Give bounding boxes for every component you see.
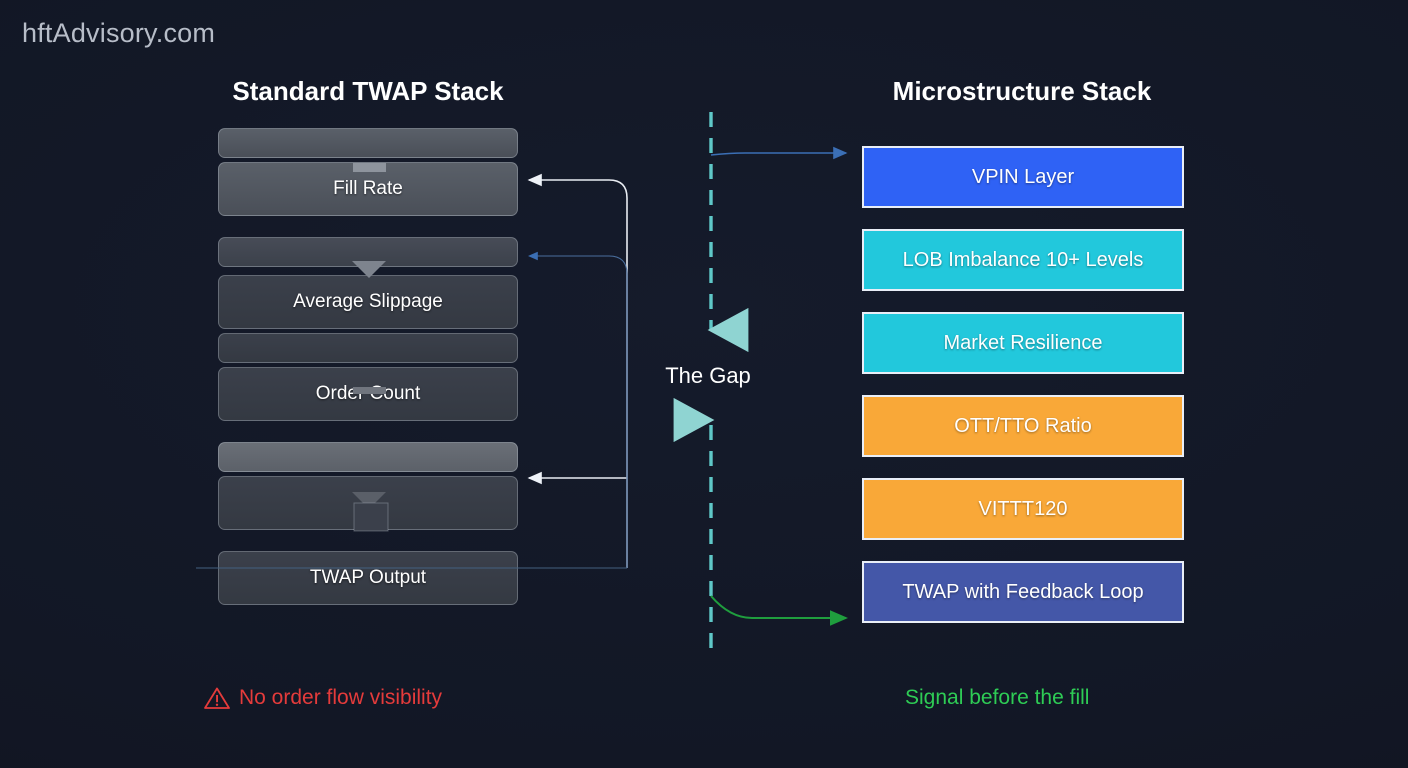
microstructure-box: OTT/TTO Ratio (862, 395, 1184, 457)
microstructure-box-label: LOB Imbalance 10+ Levels (903, 249, 1144, 272)
microstructure-stack: VPIN LayerLOB Imbalance 10+ LevelsMarket… (862, 146, 1184, 644)
left-footer-note: No order flow visibility (204, 686, 442, 710)
microstructure-box-label: Market Resilience (944, 332, 1103, 355)
twap-stack-box (218, 237, 518, 267)
microstructure-box: Market Resilience (862, 312, 1184, 374)
twap-stack-box-label: Average Slippage (293, 291, 443, 313)
right-footer-text: Signal before the fill (905, 686, 1089, 710)
twap-stack-box (218, 476, 518, 530)
twap-stack-box-label: Order Count (316, 383, 421, 405)
warning-triangle-icon (204, 687, 230, 710)
microstructure-box: VPIN Layer (862, 146, 1184, 208)
right-column-title: Microstructure Stack (782, 76, 1262, 107)
microstructure-box-label: VITTT120 (979, 498, 1068, 521)
microstructure-box-label: TWAP with Feedback Loop (902, 581, 1143, 604)
site-watermark: hftAdvisory.com (22, 18, 215, 49)
microstructure-box: TWAP with Feedback Loop (862, 561, 1184, 623)
microstructure-box-label: OTT/TTO Ratio (954, 415, 1091, 438)
twap-stack-box: Average Slippage (218, 275, 518, 329)
microstructure-box-label: VPIN Layer (972, 166, 1074, 189)
twap-stack-box (218, 442, 518, 472)
twap-stack-box-label: TWAP Output (310, 567, 426, 589)
standard-twap-stack: Fill RateAverage SlippageOrder CountTWAP… (218, 128, 518, 605)
gap-label: The Gap (613, 363, 803, 389)
left-column-title: Standard TWAP Stack (128, 76, 608, 107)
twap-stack-box (218, 333, 518, 363)
left-footer-text: No order flow visibility (239, 686, 442, 710)
twap-stack-box: Order Count (218, 367, 518, 421)
microstructure-box: VITTT120 (862, 478, 1184, 540)
twap-stack-box: TWAP Output (218, 551, 518, 605)
microstructure-box: LOB Imbalance 10+ Levels (862, 229, 1184, 291)
twap-stack-box-label: Fill Rate (333, 178, 403, 200)
right-footer-note: Signal before the fill (905, 686, 1089, 710)
twap-stack-box (218, 128, 518, 158)
twap-stack-box: Fill Rate (218, 162, 518, 216)
slide-canvas: hftAdvisory.com Standard TWAP Stack Micr… (0, 0, 1408, 768)
